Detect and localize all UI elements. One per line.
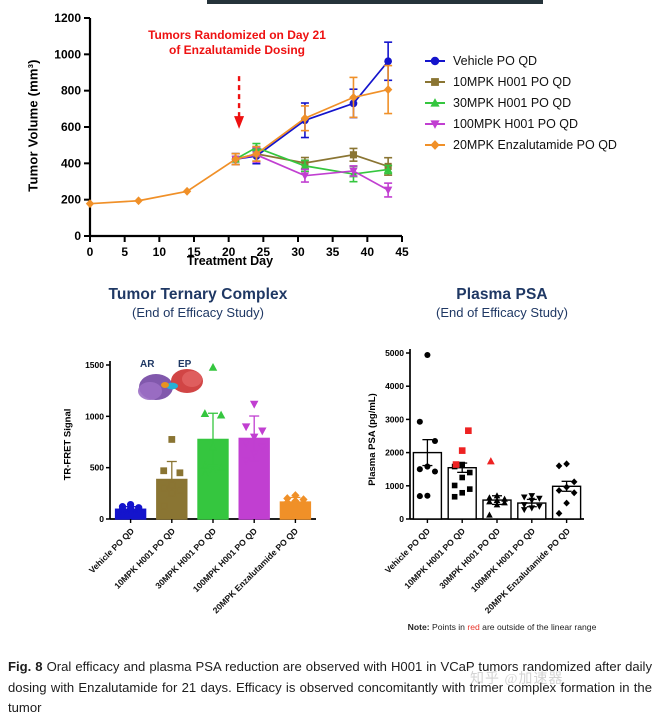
svg-text:1200: 1200 bbox=[54, 11, 81, 25]
note-body-1: Points in bbox=[430, 622, 468, 632]
figure-label: Fig. 8 bbox=[8, 659, 43, 674]
legend-item: 20MPK Enzalutamide PO QD bbox=[424, 134, 617, 155]
line-chart-plot: 020040060080010001200051015202530354045 bbox=[0, 6, 420, 256]
svg-text:1500: 1500 bbox=[85, 360, 104, 370]
panel-subtitle: (End of Efficacy Study) bbox=[48, 305, 348, 320]
y-axis-title: Plasma PSA (pg/mL) bbox=[367, 393, 378, 486]
line-chart-x-axis-label: Treatment Day bbox=[100, 254, 360, 268]
plasma-psa-plot: 010002000300040005000 bbox=[352, 329, 652, 584]
svg-text:0: 0 bbox=[74, 229, 81, 243]
svg-text:1000: 1000 bbox=[54, 47, 81, 61]
svg-text:4000: 4000 bbox=[385, 381, 404, 391]
svg-text:AR: AR bbox=[140, 359, 155, 370]
legend-label: Vehicle PO QD bbox=[453, 54, 537, 68]
svg-text:5000: 5000 bbox=[385, 348, 404, 358]
svg-text:45: 45 bbox=[395, 245, 409, 256]
svg-text:5: 5 bbox=[121, 245, 128, 256]
svg-text:1000: 1000 bbox=[85, 411, 104, 421]
svg-text:35: 35 bbox=[326, 245, 340, 256]
svg-text:1000: 1000 bbox=[385, 481, 404, 491]
legend-item: 10MPK H001 PO QD bbox=[424, 71, 617, 92]
svg-text:3000: 3000 bbox=[385, 414, 404, 424]
panel-title: Tumor Ternary Complex bbox=[48, 286, 348, 304]
figure-caption: Fig. 8 Oral efficacy and plasma PSA redu… bbox=[8, 657, 652, 719]
legend-marker-triangle-down-icon bbox=[424, 116, 446, 132]
ternary-complex-bar-chart: 050010001500AREP TR-FRET SignalVehicle P… bbox=[48, 329, 348, 584]
svg-text:0: 0 bbox=[399, 514, 404, 524]
legend-marker-triangle-up-icon bbox=[424, 95, 446, 111]
panel-title: Plasma PSA bbox=[352, 286, 652, 304]
svg-text:0: 0 bbox=[99, 514, 104, 524]
caption-text: Oral efficacy and plasma PSA reduction a… bbox=[8, 659, 652, 715]
legend-item: 100MPK H001 PO QD bbox=[424, 113, 617, 134]
svg-text:15: 15 bbox=[187, 245, 201, 256]
svg-text:40: 40 bbox=[361, 245, 375, 256]
svg-text:20: 20 bbox=[222, 245, 236, 256]
svg-text:200: 200 bbox=[61, 193, 81, 207]
svg-text:800: 800 bbox=[61, 84, 81, 98]
tumor-ternary-complex-panel: Tumor Ternary Complex (End of Efficacy S… bbox=[48, 286, 348, 584]
legend-item: 30MPK H001 PO QD bbox=[424, 92, 617, 113]
legend-label: 100MPK H001 PO QD bbox=[453, 117, 578, 131]
svg-text:25: 25 bbox=[257, 245, 271, 256]
svg-text:2000: 2000 bbox=[385, 448, 404, 458]
legend-marker-diamond-icon bbox=[424, 137, 446, 153]
y-axis-title: TR-FRET Signal bbox=[62, 409, 73, 481]
line-chart-legend: Vehicle PO QD 10MPK H001 PO QD 30MPK H00… bbox=[424, 50, 617, 155]
svg-text:400: 400 bbox=[61, 156, 81, 170]
legend-label: 30MPK H001 PO QD bbox=[453, 96, 571, 110]
red-points-note: Note: Points in red are outside of the l… bbox=[352, 622, 652, 632]
top-divider-bar bbox=[207, 0, 543, 4]
svg-text:600: 600 bbox=[61, 120, 81, 134]
legend-label: 10MPK H001 PO QD bbox=[453, 75, 571, 89]
legend-marker-circle-icon bbox=[424, 53, 446, 69]
svg-text:10: 10 bbox=[153, 245, 167, 256]
panel-subtitle: (End of Efficacy Study) bbox=[352, 305, 652, 320]
note-prefix: Note: bbox=[408, 622, 430, 632]
note-body-2: are outside of the linear range bbox=[480, 622, 597, 632]
plasma-psa-panel: Plasma PSA (End of Efficacy Study) 01000… bbox=[352, 286, 652, 584]
svg-text:500: 500 bbox=[90, 463, 104, 473]
svg-text:0: 0 bbox=[87, 245, 94, 256]
legend-item: Vehicle PO QD bbox=[424, 50, 617, 71]
svg-text:30: 30 bbox=[291, 245, 305, 256]
svg-text:EP: EP bbox=[178, 359, 192, 370]
note-red-word: red bbox=[467, 622, 479, 632]
legend-marker-square-icon bbox=[424, 74, 446, 90]
plasma-psa-bar-chart: 010002000300040005000 Plasma PSA (pg/mL)… bbox=[352, 329, 652, 584]
legend-label: 20MPK Enzalutamide PO QD bbox=[453, 138, 617, 152]
tumor-volume-line-chart: Tumor Volume (mm³) Treatment Day Tumors … bbox=[0, 6, 660, 276]
